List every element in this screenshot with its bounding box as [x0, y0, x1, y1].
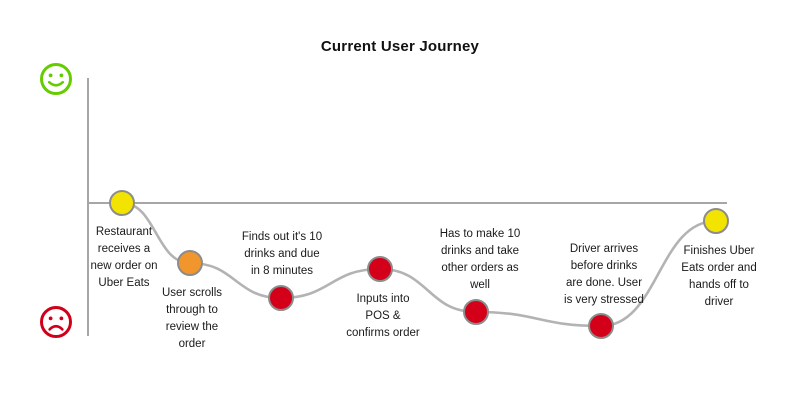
journey-step-label-3: Finds out it's 10 drinks and due in 8 mi…: [228, 229, 336, 280]
happy-face-icon: [39, 62, 73, 96]
journey-node-2[interactable]: [178, 251, 202, 275]
journey-node-1[interactable]: [110, 191, 134, 215]
sad-face-icon: [39, 305, 73, 339]
journey-node-6[interactable]: [589, 314, 613, 338]
chart-svg-layer: [0, 0, 800, 412]
journey-step-label-1: Restaurant receives a new order on Uber …: [78, 224, 170, 292]
journey-node-3[interactable]: [269, 286, 293, 310]
journey-step-label-5: Has to make 10 drinks and take other ord…: [428, 226, 532, 294]
journey-node-4[interactable]: [368, 257, 392, 281]
journey-step-label-2: User scrolls through to review the order: [148, 285, 236, 353]
user-journey-chart: Current User Journey Restaurant receives…: [0, 0, 800, 412]
journey-step-label-7: Finishes Uber Eats order and hands off t…: [668, 243, 770, 311]
journey-step-label-4: Inputs into POS & confirms order: [333, 291, 433, 342]
journey-step-label-6: Driver arrives before drinks are done. U…: [549, 241, 659, 309]
journey-node-7[interactable]: [704, 209, 728, 233]
journey-node-5[interactable]: [464, 300, 488, 324]
